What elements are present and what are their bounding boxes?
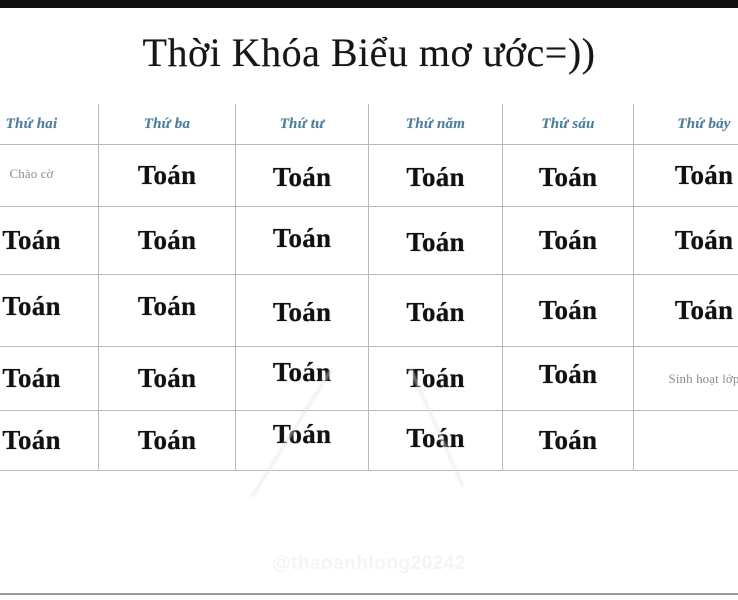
timetable-column-header: Thứ năm — [369, 104, 503, 145]
timetable-cell-label: Toán — [539, 162, 597, 193]
timetable-column-header: Thứ bảy — [634, 104, 738, 145]
timetable-cell[interactable]: Toán — [503, 411, 634, 471]
timetable-cell-label: Toán — [539, 295, 597, 326]
timetable-cell-label: Toán — [2, 225, 60, 256]
timetable-row: ToánToánToánToánToánToán — [0, 207, 738, 275]
timetable-cell-label: Toán — [2, 363, 60, 394]
timetable-cell-label: Toán — [675, 225, 733, 256]
timetable-cell-label: Toán — [539, 225, 597, 256]
timetable-cell[interactable]: Toán — [99, 145, 236, 207]
timetable-cell-label: Toán — [138, 160, 196, 191]
timetable-cell[interactable]: Toán — [236, 347, 369, 411]
timetable-cell[interactable]: Toán — [236, 145, 369, 207]
timetable-cell[interactable]: Toán — [236, 207, 369, 275]
timetable-cell-label: Toán — [539, 425, 597, 456]
timetable-cell[interactable]: Toán — [99, 207, 236, 275]
timetable-cell-label: Chào cờ — [9, 166, 53, 182]
timetable-column-header: Thứ ba — [99, 104, 236, 145]
timetable-row: ToánToánToánToánToánToán — [0, 275, 738, 347]
timetable-header-row: Thứ haiThứ baThứ tưThứ nămThứ sáuThứ bảy — [0, 104, 738, 145]
timetable-cell[interactable]: Toán — [236, 411, 369, 471]
screenshot-canvas: Thời Khóa Biểu mơ ước=)) Thứ haiThứ baTh… — [0, 0, 738, 600]
timetable-cell[interactable]: Toán — [503, 145, 634, 207]
bottom-watermark: @thaoanhlong20242 — [0, 553, 738, 575]
timetable-cell-label: Toán — [675, 295, 733, 326]
timetable-cell[interactable]: Toán — [236, 275, 369, 347]
timetable-cell-label: Toán — [675, 160, 733, 191]
timetable-cell-label: Toán — [2, 425, 60, 456]
timetable-cell-label: Toán — [273, 297, 331, 328]
timetable-cell-label: Toán — [406, 363, 464, 394]
timetable-cell[interactable]: Sinh hoạt lớp — [634, 347, 738, 411]
timetable-cell-label: Toán — [273, 419, 331, 450]
timetable-cell-label: Toán — [406, 297, 464, 328]
timetable-cell[interactable]: Toán — [369, 275, 503, 347]
timetable-cell[interactable]: Toán — [369, 347, 503, 411]
timetable-cell[interactable]: Toán — [369, 411, 503, 471]
timetable-cell[interactable]: Toán — [503, 275, 634, 347]
timetable-cell[interactable]: Toán — [99, 411, 236, 471]
timetable: Thứ haiThứ baThứ tưThứ nămThứ sáuThứ bảy… — [0, 104, 738, 471]
timetable-cell[interactable]: Toán — [634, 275, 738, 347]
timetable-cell-label: Toán — [138, 363, 196, 394]
timetable-row: Chào cờToánToánToánToánToán — [0, 145, 738, 207]
timetable-cell[interactable]: Toán — [0, 411, 99, 471]
timetable-cell-label: Toán — [138, 225, 196, 256]
timetable-cell[interactable]: Toán — [369, 145, 503, 207]
timetable-row: ToánToánToánToánToán — [0, 411, 738, 471]
timetable-cell[interactable]: Toán — [503, 347, 634, 411]
timetable-column-header: Thứ tư — [236, 104, 369, 145]
timetable-row: ToánToánToánToánToánSinh hoạt lớp — [0, 347, 738, 411]
timetable-cell[interactable]: Toán — [634, 207, 738, 275]
letterbox-bar-top — [0, 0, 738, 8]
timetable-column-header: Thứ hai — [0, 104, 99, 145]
timetable-body: Chào cờToánToánToánToánToánToánToánToánT… — [0, 145, 738, 471]
timetable-cell[interactable]: Toán — [369, 207, 503, 275]
timetable-cell[interactable]: Toán — [0, 347, 99, 411]
timetable-cell-label: Toán — [273, 162, 331, 193]
timetable-column-header: Thứ sáu — [503, 104, 634, 145]
timetable-cell-label: Toán — [2, 291, 60, 322]
timetable-cell-label: Toán — [539, 359, 597, 390]
timetable-cell-label: Toán — [406, 162, 464, 193]
timetable-cell-label: Toán — [406, 227, 464, 258]
timetable-cell[interactable] — [634, 411, 738, 471]
letterbox-bar-bottom — [0, 593, 738, 595]
page-title: Thời Khóa Biểu mơ ước=)) — [0, 30, 738, 76]
timetable-cell[interactable]: Toán — [503, 207, 634, 275]
timetable-cell-label: Toán — [273, 223, 331, 254]
timetable-cell-label: Sinh hoạt lớp — [668, 371, 738, 387]
timetable-header: Thứ haiThứ baThứ tưThứ nămThứ sáuThứ bảy — [0, 104, 738, 145]
timetable-cell-label: Toán — [273, 357, 331, 388]
timetable-cell-label: Toán — [138, 291, 196, 322]
document-page: Thời Khóa Biểu mơ ước=)) Thứ haiThứ baTh… — [0, 8, 738, 593]
timetable-cell[interactable]: Toán — [99, 347, 236, 411]
timetable-cell[interactable]: Toán — [0, 207, 99, 275]
timetable-cell-label: Toán — [138, 425, 196, 456]
timetable-cell[interactable]: Toán — [99, 275, 236, 347]
timetable-cell[interactable]: Toán — [0, 275, 99, 347]
timetable-container: Thứ haiThứ baThứ tưThứ nămThứ sáuThứ bảy… — [0, 104, 738, 474]
timetable-cell[interactable]: Toán — [634, 145, 738, 207]
timetable-cell-label: Toán — [406, 423, 464, 454]
timetable-cell[interactable]: Chào cờ — [0, 145, 99, 207]
